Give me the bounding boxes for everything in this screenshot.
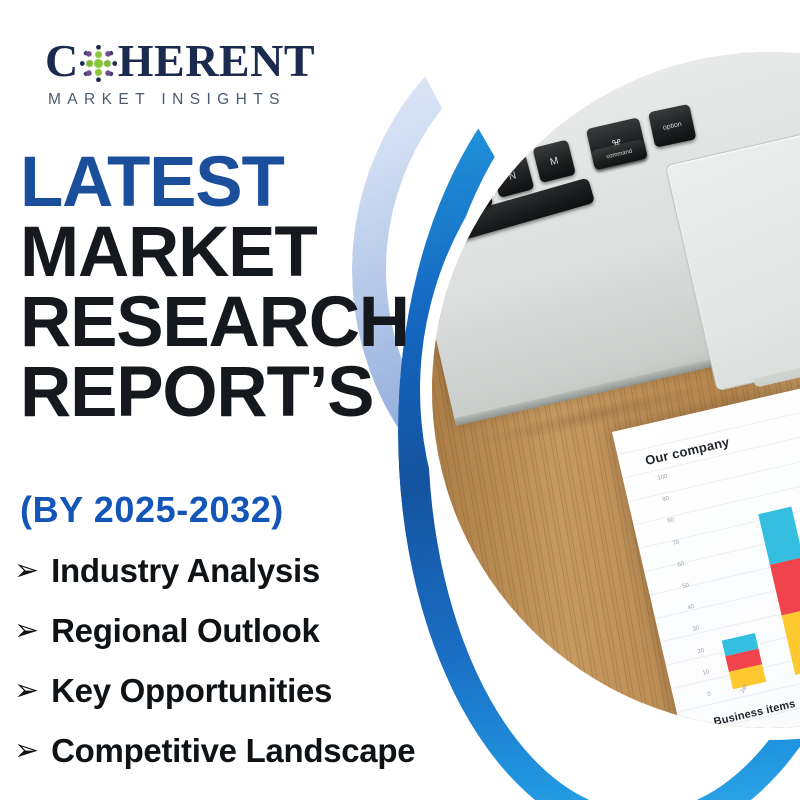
- bullet-label: Competitive Landscape: [51, 732, 415, 770]
- brand-logo: C HERENT MARKET INSIGHTS: [45, 38, 345, 109]
- brand-name-prefix: C: [45, 38, 79, 84]
- brand-tagline: MARKET INSIGHTS: [48, 91, 345, 109]
- arrow-bullet-icon: ➢: [14, 616, 39, 646]
- bullet-label: Industry Analysis: [51, 552, 320, 590]
- headline-line-3: RESEARCH: [20, 290, 440, 356]
- brand-wordmark: C HERENT: [45, 38, 345, 84]
- bullet-label: Regional Outlook: [51, 612, 319, 650]
- headline-line-2: MARKET: [20, 220, 440, 286]
- feature-bullet-list: ➢Industry Analysis➢Regional Outlook➢Key …: [14, 552, 534, 792]
- arrow-bullet-icon: ➢: [14, 736, 39, 766]
- globe-dot-pattern-icon: [80, 45, 117, 82]
- bullet-item-2: ➢Key Opportunities: [14, 672, 534, 710]
- headline-block: LATEST MARKET RESEARCH REPORT’S: [20, 150, 440, 430]
- forecast-period-label: (BY 2025-2032): [20, 489, 284, 531]
- arrow-bullet-icon: ➢: [14, 676, 39, 706]
- promotional-poster: VBNM⌘commandoption⌘command Our company 1…: [0, 0, 800, 800]
- arrow-bullet-icon: ➢: [14, 556, 39, 586]
- bullet-item-0: ➢Industry Analysis: [14, 552, 534, 590]
- headline-line-4: REPORT’S: [20, 360, 440, 426]
- bullet-label: Key Opportunities: [51, 672, 332, 710]
- headline-line-1: LATEST: [20, 150, 440, 216]
- bullet-item-3: ➢Competitive Landscape: [14, 732, 534, 770]
- brand-name-suffix: HERENT: [118, 38, 315, 84]
- bullet-item-1: ➢Regional Outlook: [14, 612, 534, 650]
- text-content: C HERENT MARKET INSIGHTS LATEST MARKET R…: [0, 0, 800, 800]
